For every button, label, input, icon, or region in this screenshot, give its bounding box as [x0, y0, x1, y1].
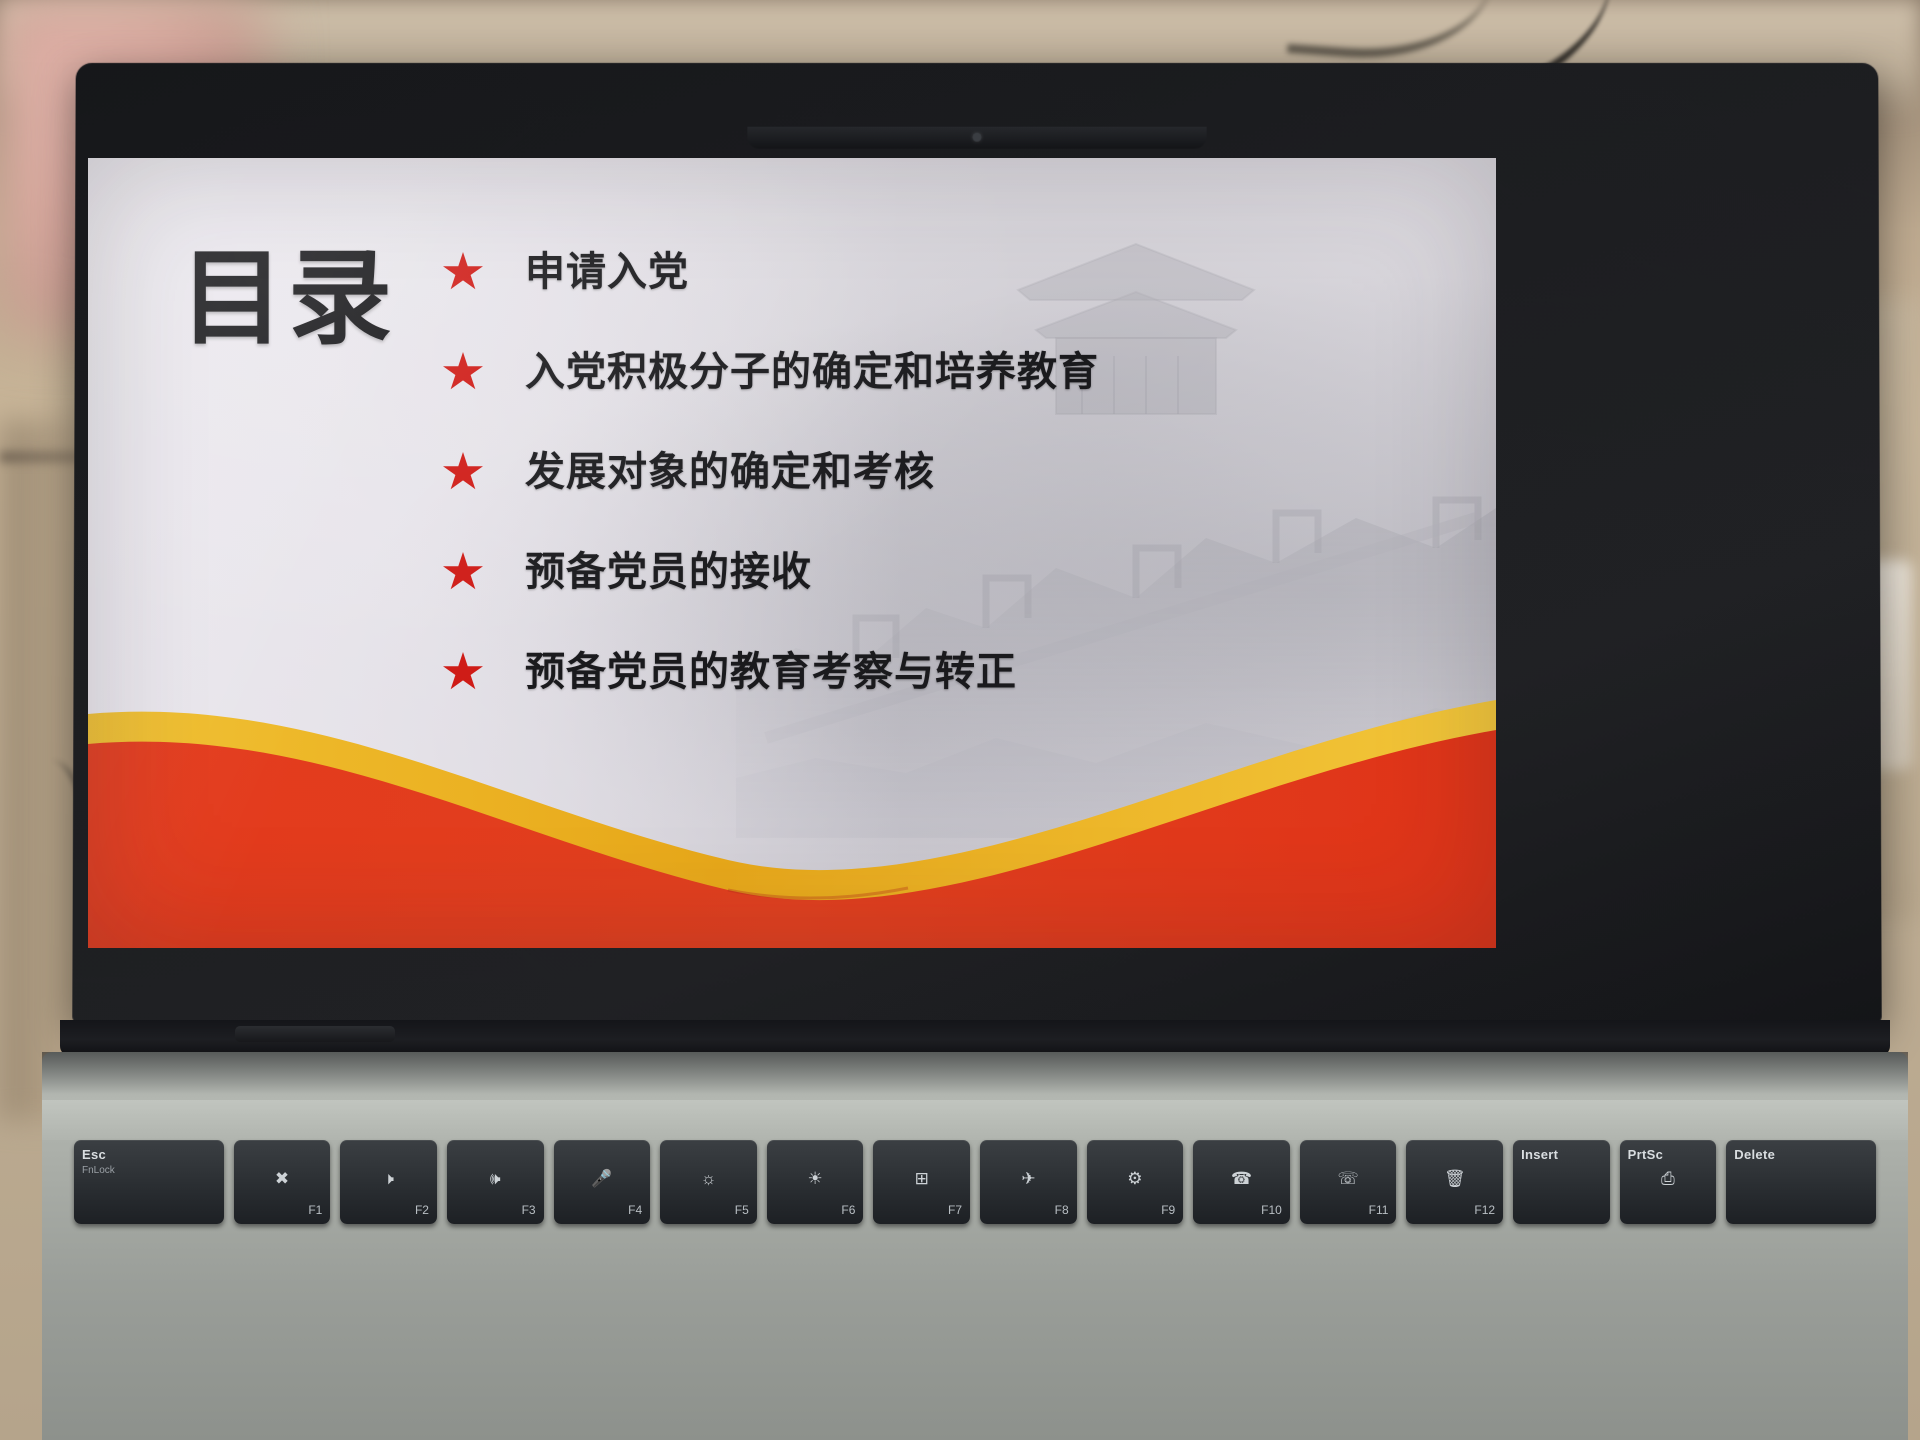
photo-scene: 目录 申请入党 入党积极分子的确定和培养教育 发展对象的确定和考核: [0, 0, 1920, 1440]
key-glyph-icon: 🕨: [383, 1170, 394, 1187]
slide-footer-wave: [88, 688, 1496, 948]
key-glyph-icon: ☀: [807, 1170, 822, 1187]
key-glyph-icon: ☼: [701, 1170, 717, 1187]
red-star-icon: [443, 252, 483, 292]
list-item-label: 入党积极分子的确定和培养教育: [525, 350, 1099, 394]
list-item[interactable]: 申请入党: [443, 250, 1463, 294]
list-item-label: 申请入党: [525, 250, 689, 294]
red-star-icon: [443, 352, 483, 392]
laptop-screen[interactable]: 目录 申请入党 入党积极分子的确定和培养教育 发展对象的确定和考核: [88, 158, 1496, 948]
laptop-device: 目录 申请入党 入党积极分子的确定和培养教育 发展对象的确定和考核: [0, 0, 1920, 1440]
key-f12[interactable]: 🗑F12: [1406, 1140, 1503, 1224]
key-fn-label: F11: [1369, 1203, 1389, 1217]
page-title: 目录: [180, 246, 396, 350]
key-fn-label: F2: [415, 1203, 429, 1217]
key-f10[interactable]: ☎F10: [1193, 1140, 1290, 1224]
key-sublabel: FnLock: [82, 1165, 115, 1176]
key-f9[interactable]: ⚙F9: [1087, 1140, 1184, 1224]
key-delete[interactable]: Delete: [1726, 1140, 1876, 1224]
key-f2[interactable]: 🕨F2: [340, 1140, 437, 1224]
key-label: PrtSc: [1628, 1147, 1663, 1162]
key-glyph-icon: 🎤: [591, 1170, 612, 1187]
key-fn-label: F5: [735, 1203, 749, 1217]
palmrest: [42, 1100, 1908, 1140]
key-fn-label: F10: [1261, 1203, 1282, 1217]
key-glyph-icon: ⊞: [915, 1170, 929, 1187]
key-fn-label: F3: [522, 1203, 536, 1217]
key-prtsc[interactable]: PrtSc⎙: [1620, 1140, 1717, 1224]
key-esc[interactable]: EscFnLock: [74, 1140, 224, 1224]
hinge-accent-bar: [235, 1026, 395, 1042]
key-glyph-icon: ☏: [1338, 1170, 1359, 1187]
key-f11[interactable]: ☏F11: [1300, 1140, 1397, 1224]
base-shadow: [42, 1052, 1908, 1094]
key-glyph-icon: 🗑: [1444, 1170, 1466, 1187]
list-item[interactable]: 入党积极分子的确定和培养教育: [443, 350, 1463, 394]
key-f1[interactable]: ✖F1: [234, 1140, 331, 1224]
key-glyph-icon: ✖: [275, 1170, 289, 1187]
list-item-label: 发展对象的确定和考核: [525, 450, 935, 494]
key-f5[interactable]: ☼F5: [660, 1140, 757, 1224]
red-star-icon: [443, 552, 483, 592]
key-f8[interactable]: ✈F8: [980, 1140, 1077, 1224]
key-glyph-icon: 🕪: [490, 1170, 501, 1187]
keyboard-function-row[interactable]: EscFnLock✖F1🕨F2🕪F3🎤F4☼F5☀F6⊞F7✈F8⚙F9☎F10…: [70, 1140, 1880, 1440]
key-label: Delete: [1734, 1147, 1775, 1162]
key-glyph-icon: ⎙: [1661, 1170, 1675, 1187]
table-of-contents-list: 申请入党 入党积极分子的确定和培养教育 发展对象的确定和考核 预备党员的接收: [443, 250, 1463, 694]
key-fn-label: F12: [1474, 1203, 1495, 1217]
key-fn-label: F7: [948, 1203, 962, 1217]
key-label: Insert: [1521, 1147, 1558, 1162]
key-fn-label: F6: [841, 1203, 855, 1217]
key-f6[interactable]: ☀F6: [767, 1140, 864, 1224]
webcam-icon: [973, 133, 982, 142]
presentation-slide[interactable]: 目录 申请入党 入党积极分子的确定和培养教育 发展对象的确定和考核: [88, 158, 1496, 948]
key-f3[interactable]: 🕪F3: [447, 1140, 544, 1224]
list-item-label: 预备党员的接收: [525, 550, 812, 594]
red-star-icon: [443, 652, 483, 692]
key-f4[interactable]: 🎤F4: [554, 1140, 651, 1224]
key-glyph-icon: ✈: [1021, 1170, 1035, 1187]
key-glyph-icon: ☎: [1231, 1170, 1252, 1187]
key-fn-label: F8: [1055, 1203, 1069, 1217]
key-insert[interactable]: Insert: [1513, 1140, 1610, 1224]
red-star-icon: [443, 452, 483, 492]
key-fn-label: F4: [628, 1203, 642, 1217]
key-f7[interactable]: ⊞F7: [873, 1140, 970, 1224]
key-fn-label: F1: [308, 1203, 322, 1217]
key-glyph-icon: ⚙: [1127, 1170, 1142, 1187]
key-fn-label: F9: [1161, 1203, 1175, 1217]
list-item[interactable]: 预备党员的接收: [443, 550, 1463, 594]
list-item[interactable]: 发展对象的确定和考核: [443, 450, 1463, 494]
key-label: Esc: [82, 1147, 106, 1162]
